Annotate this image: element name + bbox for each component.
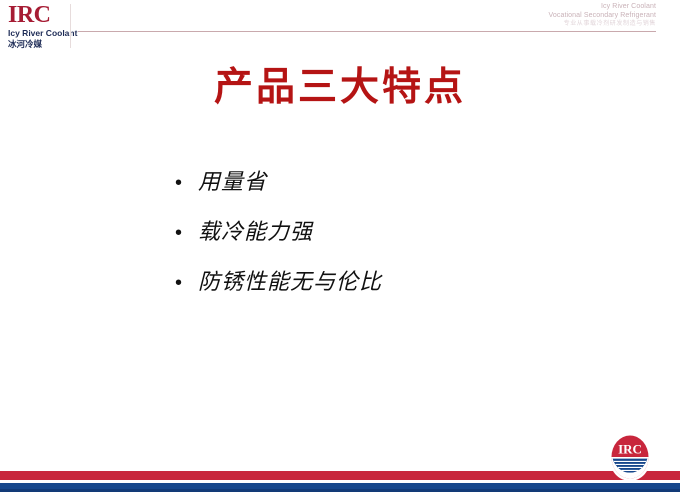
list-item-label: 载冷能力强 — [198, 218, 313, 248]
list-item: • 用量省 — [172, 168, 612, 218]
brand-logo[interactable]: IRC Icy River Coolant 冰河冷媒 — [8, 3, 66, 50]
logo-english-name: Icy River Coolant — [8, 28, 66, 38]
list-item: • 载冷能力强 — [172, 218, 612, 268]
list-item-label: 防锈性能无与伦比 — [198, 268, 382, 298]
header-horizontal-divider — [78, 31, 656, 32]
badge-wordmark: IRC — [618, 442, 642, 457]
header-tagline: Icy River Coolant Vocational Secondary R… — [549, 2, 657, 29]
list-item-label: 用量省 — [198, 168, 267, 198]
header-tagline-line-3: 专业从事载冷剂研发制造与销售 — [549, 20, 657, 29]
page-title: 产品三大特点 — [0, 64, 680, 110]
slide-canvas: IRC Icy River Coolant 冰河冷媒 Icy River Coo… — [0, 0, 680, 499]
bullet-dot-icon: • — [172, 168, 198, 198]
footer-brand-badge[interactable]: IRC — [609, 433, 651, 481]
header-tagline-line-1: Icy River Coolant — [549, 2, 657, 11]
footer-white-strip — [0, 492, 680, 499]
logo-wordmark: IRC — [8, 3, 66, 27]
footer-red-band — [0, 471, 680, 480]
bullet-dot-icon: • — [172, 218, 198, 248]
header-tagline-line-2: Vocational Secondary Refrigerant — [549, 11, 657, 20]
list-item: • 防锈性能无与伦比 — [172, 268, 612, 318]
bullet-dot-icon: • — [172, 268, 198, 298]
irc-badge-icon: IRC — [609, 433, 651, 481]
header-vertical-divider — [70, 4, 71, 48]
logo-chinese-name: 冰河冷媒 — [8, 39, 66, 50]
slide-header: IRC Icy River Coolant 冰河冷媒 Icy River Coo… — [0, 0, 680, 56]
bullet-list: • 用量省 • 载冷能力强 • 防锈性能无与伦比 — [172, 168, 612, 318]
